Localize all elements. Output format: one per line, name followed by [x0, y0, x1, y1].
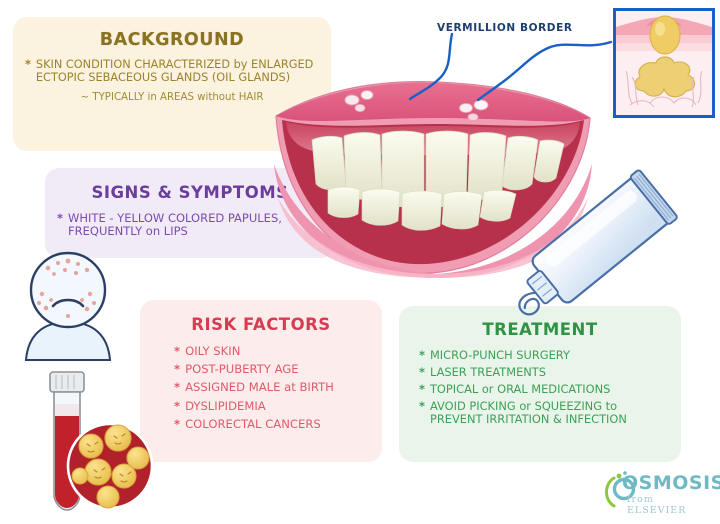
- tube-cap: [50, 372, 84, 392]
- inset-skin-cross-section: [613, 8, 715, 118]
- logo-leaf-arc: [607, 478, 615, 506]
- bullet-icon: *: [174, 418, 180, 431]
- bullet-icon: *: [57, 212, 63, 225]
- bullet-icon: *: [174, 345, 180, 358]
- bullet-icon: *: [174, 400, 180, 413]
- bullet-icon: *: [419, 366, 425, 379]
- osmosis-logo-subtitle: from ELSEVIER: [627, 494, 712, 516]
- list-item: * AVOID PICKING or SQUEEZING to PREVENT …: [419, 400, 669, 426]
- panel-risk-title: RISK FACTORS: [152, 315, 370, 334]
- list-item: * LASER TREATMENTS: [419, 366, 669, 379]
- list-item: * POST-PUBERTY AGE: [174, 363, 370, 376]
- list-item: * ASSIGNED MALE at BIRTH: [174, 381, 370, 394]
- bullet-icon: *: [174, 381, 180, 394]
- osmosis-logo-word: OSMOSIS: [622, 472, 720, 494]
- sad-face-with-acne-illustration: [8, 248, 128, 363]
- blood-tube-lipid-illustration: [28, 368, 158, 513]
- list-item: * DYSLIPIDEMIA: [174, 400, 370, 413]
- bullet-icon: *: [25, 59, 31, 72]
- list-item: * COLORECTAL CANCERS: [174, 418, 370, 431]
- panel-treatment-list: * MICRO-PUNCH SURGERY * LASER TREATMENTS…: [411, 349, 669, 426]
- osmosis-logo: OSMOSIS from ELSEVIER: [600, 470, 712, 514]
- bullet-icon: *: [174, 363, 180, 376]
- bullet-icon: *: [419, 400, 425, 413]
- panel-treatment: TREATMENT * MICRO-PUNCH SURGERY * LASER …: [399, 306, 681, 462]
- panel-risk-factors: RISK FACTORS * OILY SKIN * POST-PUBERTY …: [140, 300, 382, 462]
- list-item-label: LASER TREATMENTS: [430, 366, 669, 379]
- infographic-canvas: BACKGROUND * SKIN CONDITION CHARACTERIZE…: [0, 0, 720, 524]
- blood-plasma-band: [55, 404, 79, 416]
- bullet-icon: *: [419, 349, 425, 362]
- list-item-label: POST-PUBERTY AGE: [185, 363, 370, 376]
- list-item-label: TOPICAL or ORAL MEDICATIONS: [430, 383, 669, 396]
- upper-lip: [276, 83, 590, 122]
- list-item: * MICRO-PUNCH SURGERY: [419, 349, 669, 362]
- toothpaste-tube-illustration: [488, 160, 713, 325]
- bullet-icon: *: [419, 383, 425, 396]
- panel-risk-list: * OILY SKIN * POST-PUBERTY AGE * ASSIGNE…: [152, 345, 370, 431]
- list-item-label: OILY SKIN: [185, 345, 370, 358]
- logo-dot-green: [617, 474, 622, 479]
- list-item-label: DYSLIPIDEMIA: [185, 400, 370, 413]
- skin-cross-section-svg: [616, 11, 712, 115]
- list-item: * OILY SKIN: [174, 345, 370, 358]
- list-item-label: COLORECTAL CANCERS: [185, 418, 370, 431]
- vermillion-border-label: VERMILLION BORDER: [437, 22, 573, 34]
- sebum-highlight: [655, 22, 665, 36]
- sebum-globule: [650, 16, 680, 54]
- list-item-label: AVOID PICKING or SQUEEZING to PREVENT IR…: [430, 400, 669, 426]
- panel-background-title: BACKGROUND: [25, 30, 319, 50]
- list-item-label: MICRO-PUNCH SURGERY: [430, 349, 669, 362]
- list-item-label: ASSIGNED MALE at BIRTH: [185, 381, 370, 394]
- list-item: * TOPICAL or ORAL MEDICATIONS: [419, 383, 669, 396]
